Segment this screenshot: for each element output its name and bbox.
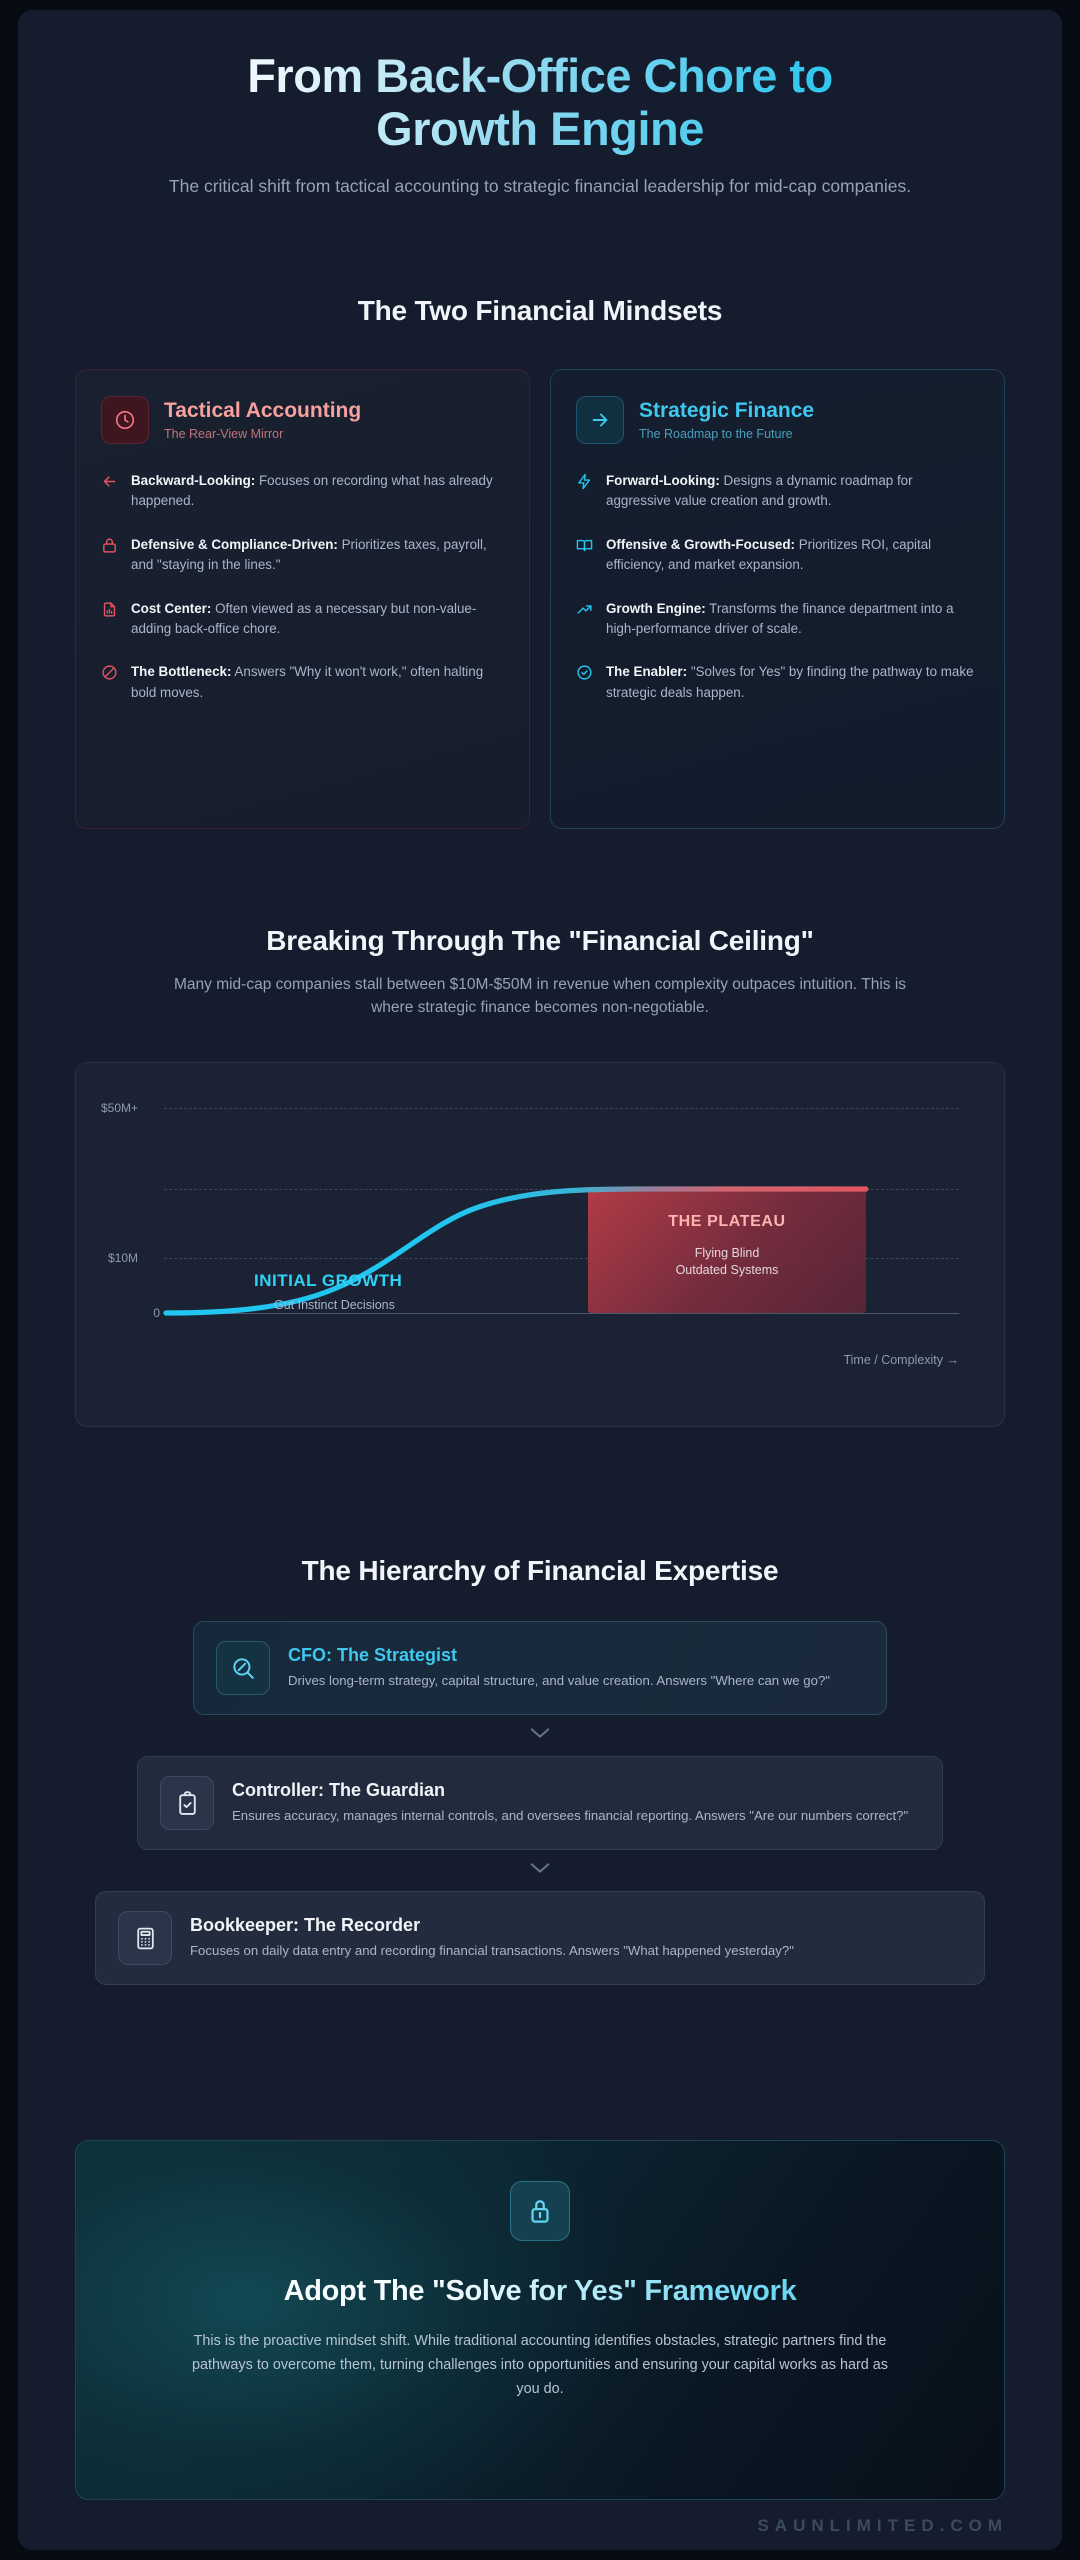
- list-item: Defensive & Compliance-Driven: Prioritiz…: [101, 535, 504, 576]
- watermark: SAUNLIMITED.COM: [757, 2516, 1008, 2536]
- arrow-right-icon: [576, 396, 624, 444]
- list-item: Backward-Looking: Focuses on recording w…: [101, 471, 504, 512]
- trending-up-icon: [576, 601, 593, 618]
- list-item: Growth Engine: Transforms the finance de…: [576, 599, 979, 640]
- list-item: Offensive & Growth-Focused: Prioritizes …: [576, 535, 979, 576]
- card-header: Strategic Finance The Roadmap to the Fut…: [576, 396, 979, 444]
- list-item-text: Growth Engine: Transforms the finance de…: [606, 599, 979, 640]
- list-item-term: Cost Center:: [131, 601, 211, 616]
- card-strategic-finance: Strategic Finance The Roadmap to the Fut…: [550, 369, 1005, 829]
- plateau-title: THE PLATEAU: [588, 1213, 866, 1231]
- page-title-line2: Growth Engine: [376, 102, 704, 155]
- hierarchy-level-name: Controller: The Guardian: [232, 1780, 908, 1802]
- list-item-text: Cost Center: Often viewed as a necessary…: [131, 599, 504, 640]
- initial-growth-subtitle: Gut Instinct Decisions: [274, 1298, 395, 1312]
- main-panel: From Back-Office Chore to Growth Engine …: [18, 10, 1062, 2550]
- plateau-subtitle-line1: Flying Blind: [588, 1245, 866, 1263]
- hierarchy-heading: The Hierarchy of Financial Expertise: [18, 1555, 1062, 1587]
- chevron-down-icon: [529, 1861, 551, 1880]
- x-axis-label: Time / Complexity →: [843, 1353, 959, 1367]
- list-item: Cost Center: Often viewed as a necessary…: [101, 599, 504, 640]
- list-item-text: Forward-Looking: Designs a dynamic roadm…: [606, 471, 979, 512]
- chart-plot-area: $50M+ $10M 0: [76, 1063, 1004, 1426]
- hierarchy-level-desc: Ensures accuracy, manages internal contr…: [232, 1806, 908, 1826]
- list-item: The Bottleneck: Answers "Why it won't wo…: [101, 662, 504, 703]
- plateau-subtitle-line2: Outdated Systems: [588, 1262, 866, 1280]
- list-item-text: Backward-Looking: Focuses on recording w…: [131, 471, 504, 512]
- list-item-term: Backward-Looking:: [131, 473, 255, 488]
- tactical-list: Backward-Looking: Focuses on recording w…: [101, 471, 504, 703]
- mindsets-heading: The Two Financial Mindsets: [18, 295, 1062, 327]
- hierarchy-level-controller[interactable]: Controller: The Guardian Ensures accurac…: [137, 1756, 943, 1850]
- page-subtitle: The critical shift from tactical account…: [140, 173, 940, 199]
- cta-title-plain: Adopt The "Solve for Yes": [284, 2275, 645, 2307]
- list-item-term: Growth Engine:: [606, 601, 706, 616]
- unlock-icon: [510, 2181, 570, 2241]
- list-item-term: Forward-Looking:: [606, 473, 720, 488]
- magnifier-strategy-icon: [216, 1641, 270, 1695]
- list-item-text: Defensive & Compliance-Driven: Prioritiz…: [131, 535, 504, 576]
- cta-body: This is the proactive mindset shift. Whi…: [190, 2330, 890, 2401]
- hierarchy-level-bookkeeper[interactable]: Bookkeeper: The Recorder Focuses on dail…: [95, 1891, 985, 1985]
- initial-growth-title: INITIAL GROWTH: [254, 1271, 402, 1291]
- hierarchy-level-desc: Focuses on daily data entry and recordin…: [190, 1941, 794, 1961]
- strategic-list: Forward-Looking: Designs a dynamic roadm…: [576, 471, 979, 703]
- page-title-line1: From Back-Office Chore to: [247, 49, 833, 102]
- hierarchy-level-desc: Drives long-term strategy, capital struc…: [288, 1671, 830, 1691]
- hero-section: From Back-Office Chore to Growth Engine …: [18, 50, 1062, 200]
- calculator-icon: [118, 1911, 172, 1965]
- list-item-term: Defensive & Compliance-Driven:: [131, 537, 338, 552]
- list-item: The Enabler: "Solves for Yes" by finding…: [576, 662, 979, 703]
- clipboard-check-icon: [160, 1776, 214, 1830]
- list-item: Forward-Looking: Designs a dynamic roadm…: [576, 471, 979, 512]
- infographic-page: From Back-Office Chore to Growth Engine …: [0, 0, 1080, 2560]
- list-item-term: The Enabler:: [606, 664, 687, 679]
- hierarchy-level-cfo[interactable]: CFO: The Strategist Drives long-term str…: [193, 1621, 887, 1715]
- list-item-term: Offensive & Growth-Focused:: [606, 537, 795, 552]
- mindsets-grid: Tactical Accounting The Rear-View Mirror: [18, 369, 1062, 829]
- list-item-text: The Bottleneck: Answers "Why it won't wo…: [131, 662, 504, 703]
- arrow-left-icon: [101, 473, 118, 490]
- card-header: Tactical Accounting The Rear-View Mirror: [101, 396, 504, 444]
- card-tactical-accounting: Tactical Accounting The Rear-View Mirror: [75, 369, 530, 829]
- card-title: Strategic Finance: [639, 399, 814, 423]
- ceiling-heading: Breaking Through The "Financial Ceiling": [18, 925, 1062, 957]
- hierarchy-list: CFO: The Strategist Drives long-term str…: [18, 1621, 1062, 1985]
- ceiling-subtext: Many mid-cap companies stall between $10…: [160, 973, 920, 1020]
- check-circle-icon: [576, 664, 593, 681]
- cta-section: Adopt The "Solve for Yes" Framework This…: [75, 2140, 1005, 2500]
- book-icon: [576, 537, 593, 554]
- plateau-subtitle: Flying Blind Outdated Systems: [588, 1245, 866, 1281]
- file-chart-icon: [101, 601, 118, 618]
- cta-title: Adopt The "Solve for Yes" Framework: [76, 2275, 1004, 2308]
- ban-icon: [101, 664, 118, 681]
- clock-icon: [101, 396, 149, 444]
- growth-plateau-chart: $50M+ $10M 0: [75, 1062, 1005, 1427]
- lock-icon: [101, 537, 118, 554]
- financial-ceiling-section: Breaking Through The "Financial Ceiling"…: [18, 925, 1062, 1427]
- list-item-text: The Enabler: "Solves for Yes" by finding…: [606, 662, 979, 703]
- card-title: Tactical Accounting: [164, 399, 361, 423]
- hierarchy-section: The Hierarchy of Financial Expertise CFO…: [18, 1555, 1062, 1985]
- page-title: From Back-Office Chore to Growth Engine: [88, 50, 992, 155]
- zap-icon: [576, 473, 593, 490]
- card-subtitle: The Roadmap to the Future: [639, 427, 814, 441]
- card-subtitle: The Rear-View Mirror: [164, 427, 361, 441]
- chevron-down-icon: [529, 1726, 551, 1745]
- cta-title-accent: Framework: [644, 2275, 796, 2307]
- mindsets-section: The Two Financial Mindsets Tactical Acco…: [18, 295, 1062, 829]
- hierarchy-level-name: CFO: The Strategist: [288, 1645, 830, 1667]
- hierarchy-level-name: Bookkeeper: The Recorder: [190, 1915, 794, 1937]
- list-item-text: Offensive & Growth-Focused: Prioritizes …: [606, 535, 979, 576]
- list-item-term: The Bottleneck:: [131, 664, 231, 679]
